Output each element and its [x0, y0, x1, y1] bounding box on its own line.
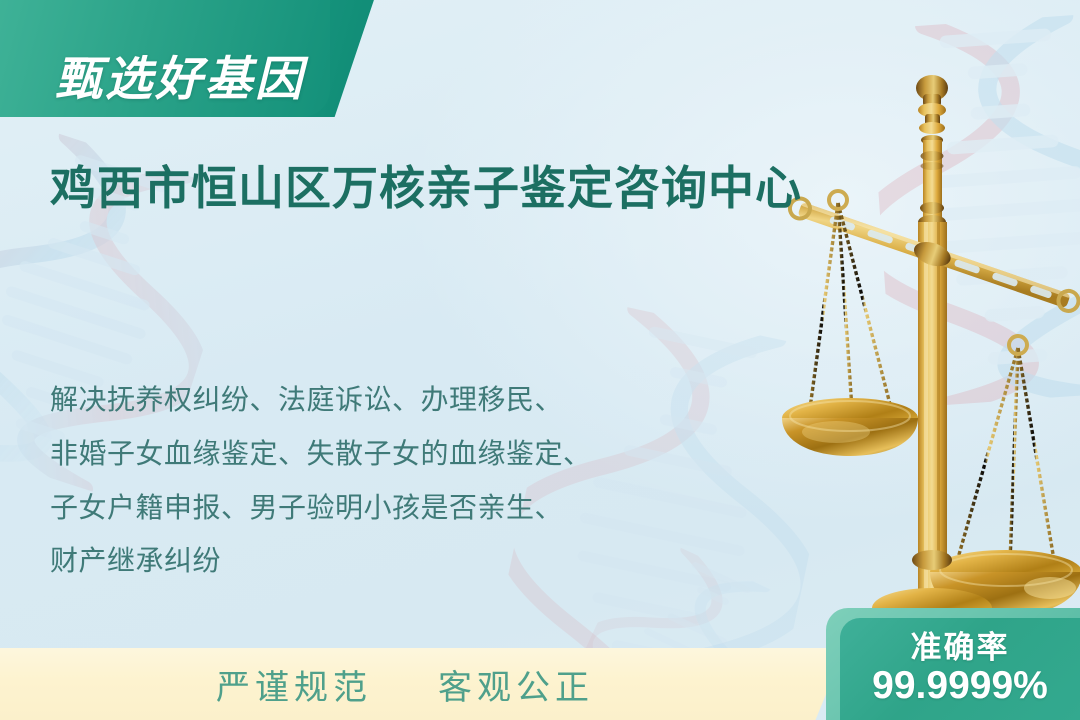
accuracy-badge: 准确率 99.9999% — [840, 618, 1080, 720]
brand-logo-text: 甄选好基因 — [30, 28, 330, 120]
accuracy-badge-label: 准确率 — [911, 632, 1010, 665]
slogan-group: 严谨规范 客观公正 — [0, 648, 810, 720]
services-line: 财产继承纠纷 — [50, 534, 750, 588]
page-title: 鸡西市恒山区万核亲子鉴定咨询中心 — [50, 158, 850, 219]
slogan-left: 严谨规范 — [216, 660, 372, 709]
slogan-right: 客观公正 — [438, 660, 594, 709]
services-description: 解决抚养权纠纷、法庭诉讼、办理移民、 非婚子女血缘鉴定、失散子女的血缘鉴定、 子… — [50, 373, 750, 588]
poster-canvas: 甄选好基因 鸡西市恒山区万核亲子鉴定咨询中心 解决抚养权纠纷、法庭诉讼、办理移民… — [0, 0, 1080, 720]
services-line: 非婚子女血缘鉴定、失散子女的血缘鉴定、 — [50, 427, 750, 481]
accuracy-badge-value: 99.9999% — [872, 664, 1048, 708]
services-line: 解决抚养权纠纷、法庭诉讼、办理移民、 — [50, 373, 750, 427]
balance-scale-illustration — [740, 60, 1080, 660]
services-line: 子女户籍申报、男子验明小孩是否亲生、 — [50, 481, 750, 535]
